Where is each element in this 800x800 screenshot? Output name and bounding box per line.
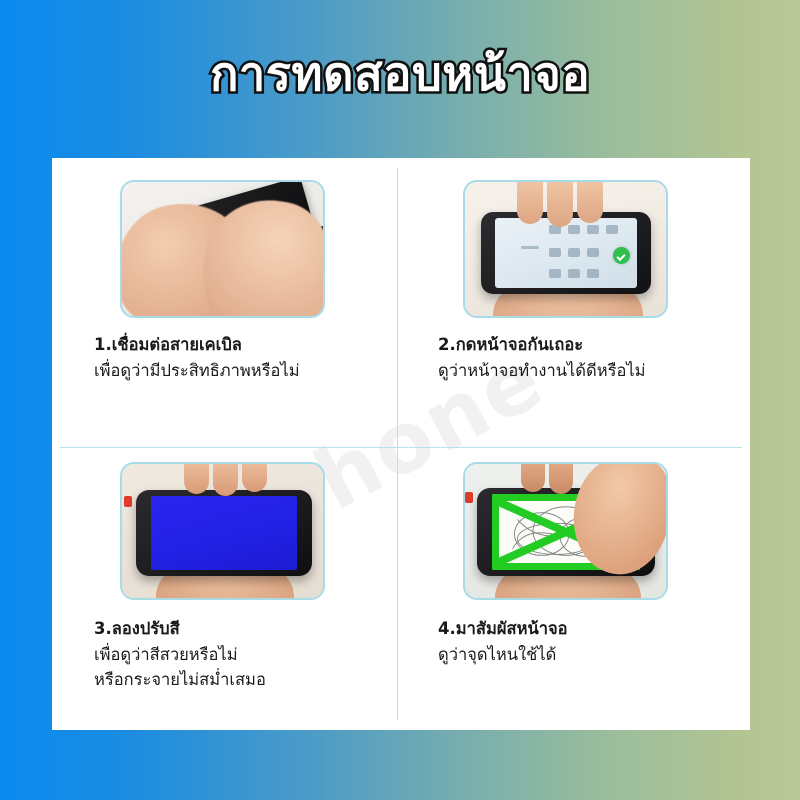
fingers-icon <box>184 462 288 496</box>
red-marker-icon <box>124 496 132 507</box>
step-cell-2: 2.กดหน้าจอกันเถอะ ดูว่าหน้าจอทำงานได้ดีห… <box>398 158 743 446</box>
page-title-container: การทดสอบหน้าจอ <box>0 48 800 102</box>
steps-card: Phone 1.เชื่อมต่อสายเคเบิล <box>52 158 750 730</box>
fingers-icon <box>521 462 601 494</box>
page-title: การทดสอบหน้าจอ <box>210 48 590 102</box>
step-cell-1: 1.เชื่อมต่อสายเคเบิล เพื่อดูว่ามีประสิทธ… <box>52 158 397 446</box>
step-3-caption: 3.ลองปรับสี เพื่อดูว่าสีสวยหรือไม่ หรือก… <box>94 616 394 693</box>
press-screen-illustration <box>465 182 666 316</box>
step-1-line-1: 1.เชื่อมต่อสายเคเบิล <box>94 332 394 358</box>
step-1-caption: 1.เชื่อมต่อสายเคเบิล เพื่อดูว่ามีประสิทธ… <box>94 332 394 383</box>
step-4-line-1: 4.มาสัมผัสหน้าจอ <box>438 616 738 642</box>
step-2-caption: 2.กดหน้าจอกันเถอะ ดูว่าหน้าจอทำงานได้ดีห… <box>438 332 738 383</box>
step-cell-4: 4.มาสัมผัสหน้าจอ ดูว่าจุดไหนใช้ได้ <box>398 448 743 730</box>
step-2-line-1: 2.กดหน้าจอกันเถอะ <box>438 332 738 358</box>
poster-root: การทดสอบหน้าจอ Phone <box>0 0 800 800</box>
touch-test-illustration <box>465 464 666 598</box>
step-3-line-1: 3.ลองปรับสี <box>94 616 394 642</box>
green-check-icon <box>613 247 630 264</box>
step-4-photo <box>463 462 668 600</box>
red-marker-icon <box>465 492 473 503</box>
step-2-line-2: ดูว่าหน้าจอทำงานได้ดีหรือไม่ <box>438 358 738 384</box>
cable-connect-illustration <box>122 182 323 316</box>
phone-body-icon <box>136 490 312 576</box>
step-4-caption: 4.มาสัมผัสหน้าจอ ดูว่าจุดไหนใช้ได้ <box>438 616 738 667</box>
color-test-illustration <box>122 464 323 598</box>
step-4-line-2: ดูว่าจุดไหนใช้ได้ <box>438 642 738 668</box>
step-3-line-2: เพื่อดูว่าสีสวยหรือไม่ <box>94 642 394 668</box>
step-1-line-2: เพื่อดูว่ามีประสิทธิภาพหรือไม่ <box>94 358 394 384</box>
step-cell-3: 3.ลองปรับสี เพื่อดูว่าสีสวยหรือไม่ หรือก… <box>52 448 397 730</box>
fingers-icon <box>517 180 625 226</box>
step-1-photo <box>120 180 325 318</box>
step-3-line-3: หรือกระจายไม่สม่ำเสมอ <box>94 667 394 693</box>
step-2-photo <box>463 180 668 318</box>
blue-color-test-screen <box>151 496 297 570</box>
phone-screen <box>495 218 637 288</box>
step-3-photo <box>120 462 325 600</box>
